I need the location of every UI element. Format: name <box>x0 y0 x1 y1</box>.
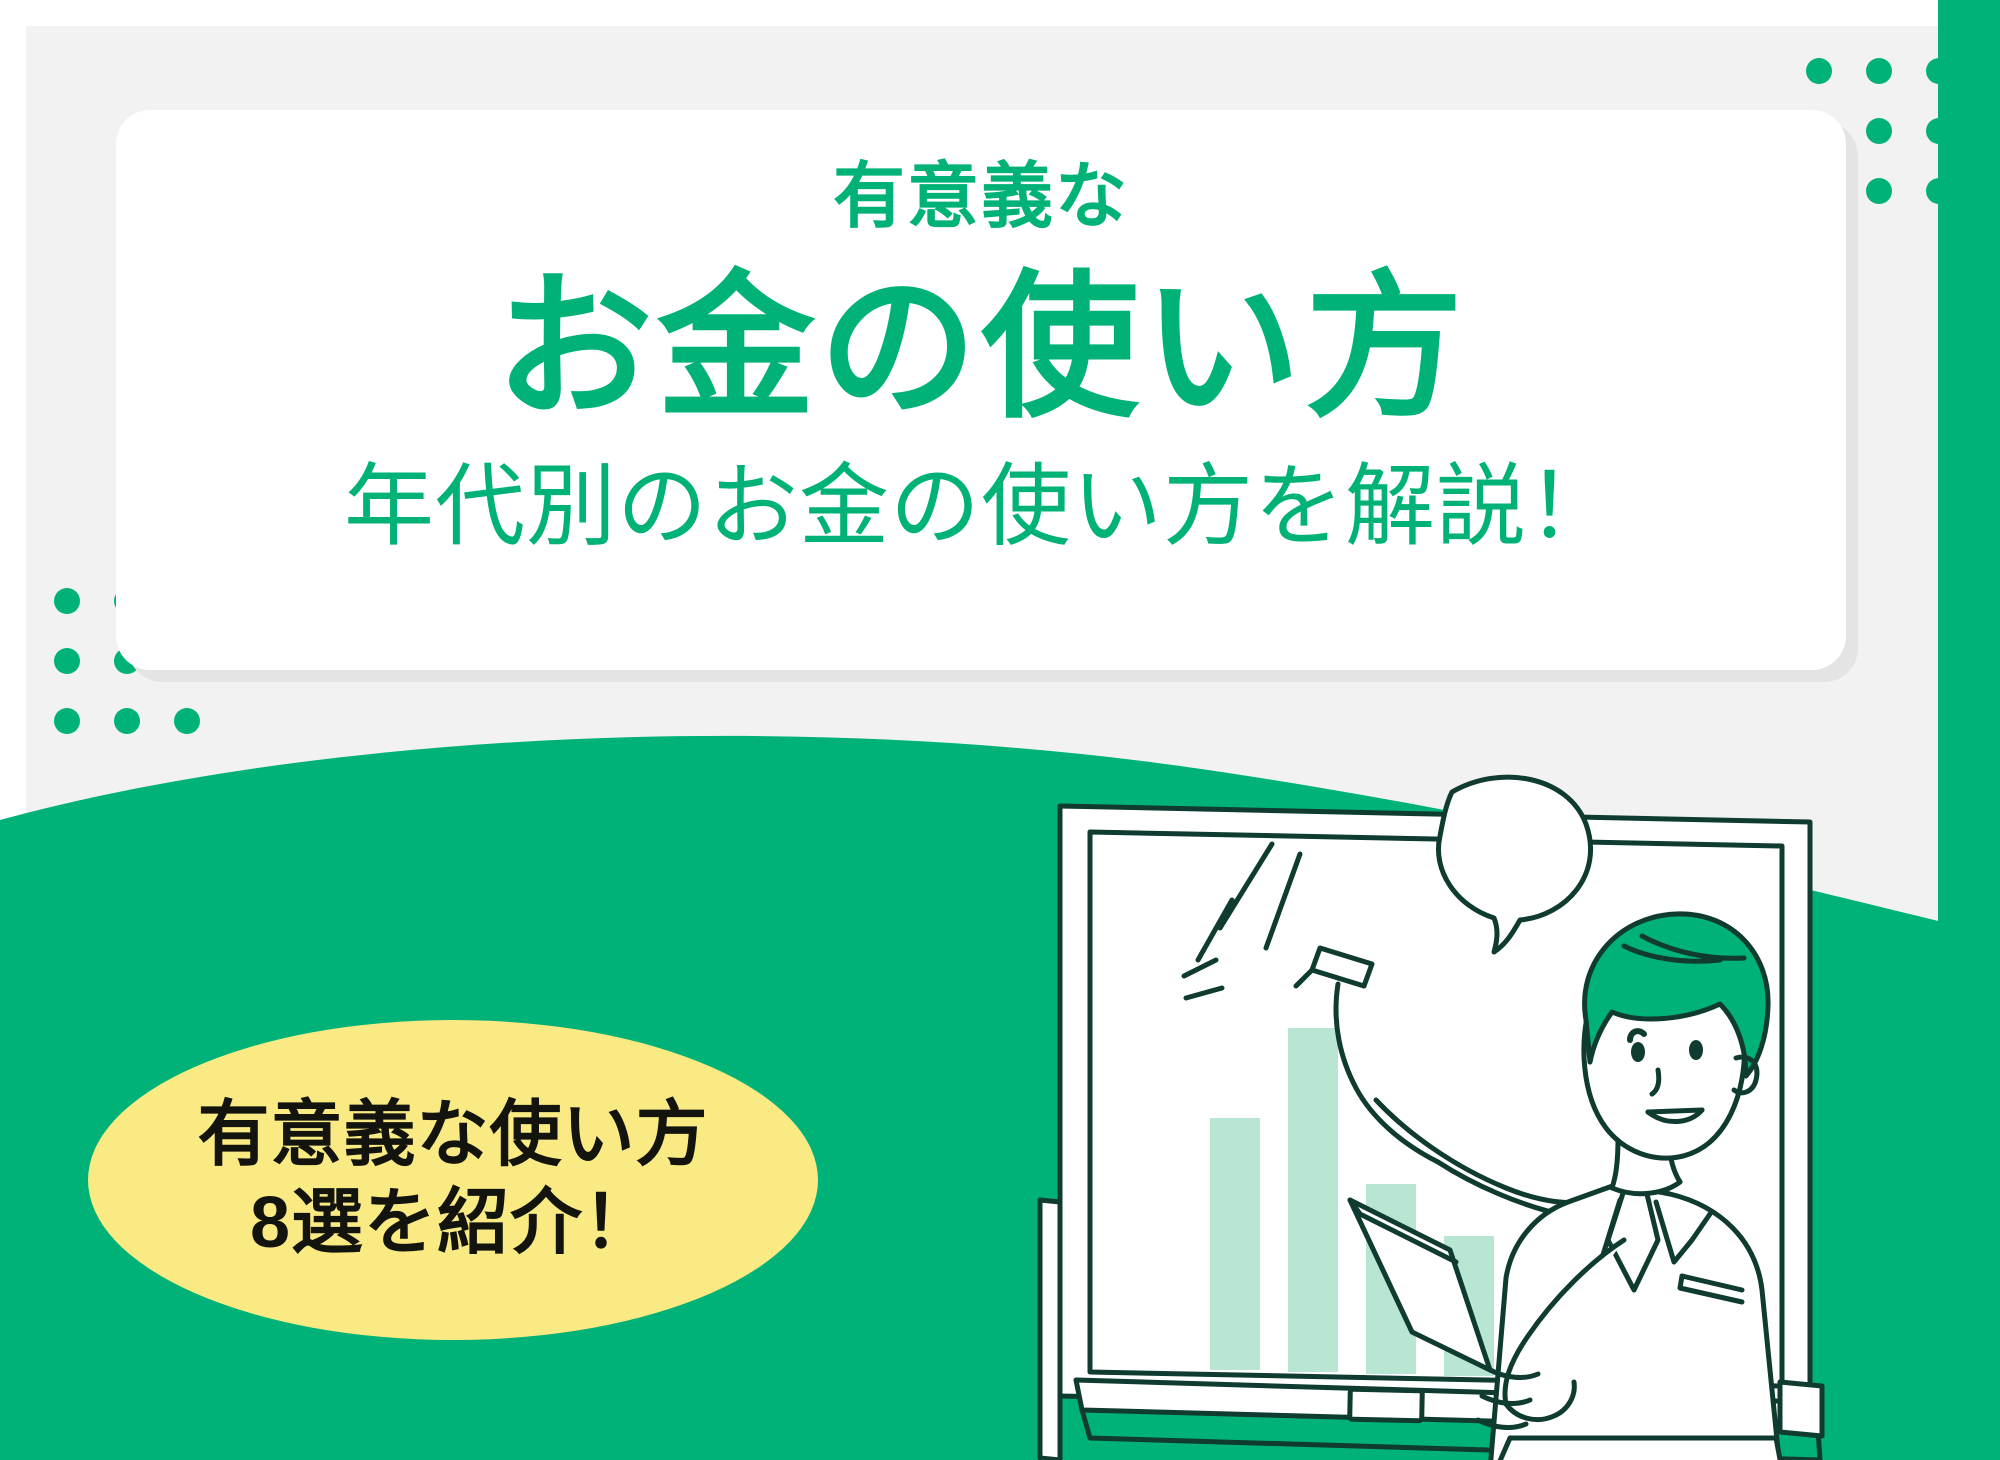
page-subtitle: 年代別のお金の使い方を解説！ <box>344 453 1618 561</box>
decor-dot <box>1926 178 1952 204</box>
highlight-badge: 有意義な使い方 8選を紹介！ <box>88 1020 818 1340</box>
badge-line-2: 8選を紹介！ <box>250 1180 656 1268</box>
decor-dot <box>1926 58 1952 84</box>
decor-dot <box>114 708 140 734</box>
decor-dot <box>1806 58 1832 84</box>
background-green-right-strip <box>1938 0 2000 1460</box>
decor-dot <box>1866 178 1892 204</box>
decor-dot <box>1866 118 1892 144</box>
decor-dot <box>54 648 80 674</box>
decor-dot <box>1926 118 1952 144</box>
decor-dot <box>54 588 80 614</box>
decor-dot <box>174 708 200 734</box>
title-card: 有意義な お金の使い方 年代別のお金の使い方を解説！ <box>116 110 1846 670</box>
decor-dot <box>1866 58 1892 84</box>
decor-dot <box>54 708 80 734</box>
presenter-illustration <box>1020 770 1940 1460</box>
chart-bar-2 <box>1288 1028 1338 1372</box>
eyebrow-text: 有意義な <box>833 160 1129 236</box>
chart-bar-1 <box>1210 1118 1260 1370</box>
badge-line-1: 有意義な使い方 <box>197 1092 708 1180</box>
page-title: お金の使い方 <box>495 254 1467 444</box>
thumbnail-canvas: 有意義な お金の使い方 年代別のお金の使い方を解説！ <box>0 0 2000 1460</box>
